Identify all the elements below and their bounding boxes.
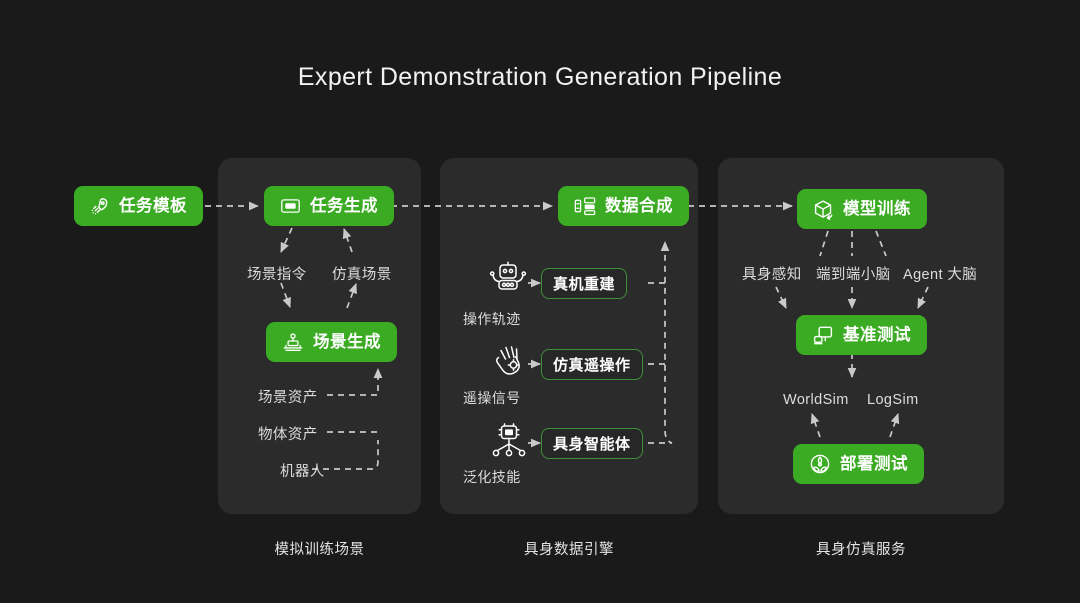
node-data-synthesis[interactable]: 数据合成 [558,186,689,226]
node-embodied-agent[interactable]: 具身智能体 [541,428,643,459]
scene-robot-icon [282,332,304,353]
node-scene-generation[interactable]: 场景生成 [266,322,397,362]
node-label: 任务模板 [119,198,187,215]
node-task-template[interactable]: 任务模板 [74,186,203,226]
label-simulation-scene: 仿真场景 [332,263,392,284]
node-deployment-test[interactable]: 部署测试 [793,444,924,484]
cube-refresh-icon [813,199,834,220]
label-scene-assets: 场景资产 [258,386,318,407]
node-label: 仿真遥操作 [553,354,631,375]
node-simulated-teleoperation[interactable]: 仿真遥操作 [541,349,643,380]
node-benchmark-test[interactable]: 基准测试 [796,315,927,355]
caption-panel-embodied-sim-service: 具身仿真服务 [718,538,1004,559]
node-real-machine-reconstruction[interactable]: 真机重建 [541,268,627,299]
caption-panel-embodied-data-engine: 具身数据引擎 [440,538,698,559]
node-task-generation[interactable]: 任务生成 [264,186,394,226]
label-logsim: LogSim [867,392,919,408]
label-operation-trajectory: 操作轨迹 [463,309,521,329]
label-teleop-signal: 遥操信号 [463,388,521,408]
label-agent-brain: Agent 大脑 [903,263,977,284]
node-label: 基准测试 [843,327,911,344]
node-label: 真机重建 [553,273,615,294]
label-object-assets: 物体资产 [258,423,318,444]
label-worldsim: WorldSim [783,392,849,408]
node-label: 模型训练 [843,201,911,218]
deploy-globe-icon [809,453,831,475]
diagram-canvas: Expert Demonstration Generation Pipeline [0,0,1080,603]
node-model-training[interactable]: 模型训练 [797,189,927,229]
label-generalization-skill: 泛化技能 [463,467,521,487]
data-sync-icon [574,196,596,216]
label-end-to-end-cerebellum: 端到端小脑 [816,263,891,284]
icon-teleop-signal [489,345,529,386]
template-pl-icon [280,196,301,216]
label-robot: 机器人 [280,460,325,481]
node-label: 任务生成 [310,198,378,215]
icon-operation-trajectory [487,261,529,306]
caption-panel-simulation-training: 模拟训练场景 [218,538,421,559]
monitor-bench-icon [812,325,834,346]
label-scene-instruction: 场景指令 [247,263,307,284]
node-label: 数据合成 [605,198,673,215]
node-label: 场景生成 [313,334,381,351]
label-embodied-perception: 具身感知 [742,263,802,284]
page-title: Expert Demonstration Generation Pipeline [0,63,1080,92]
icon-generalization-skill [488,423,530,466]
node-label: 部署测试 [840,456,908,473]
rocket-icon [90,196,110,216]
node-label: 具身智能体 [553,433,631,454]
